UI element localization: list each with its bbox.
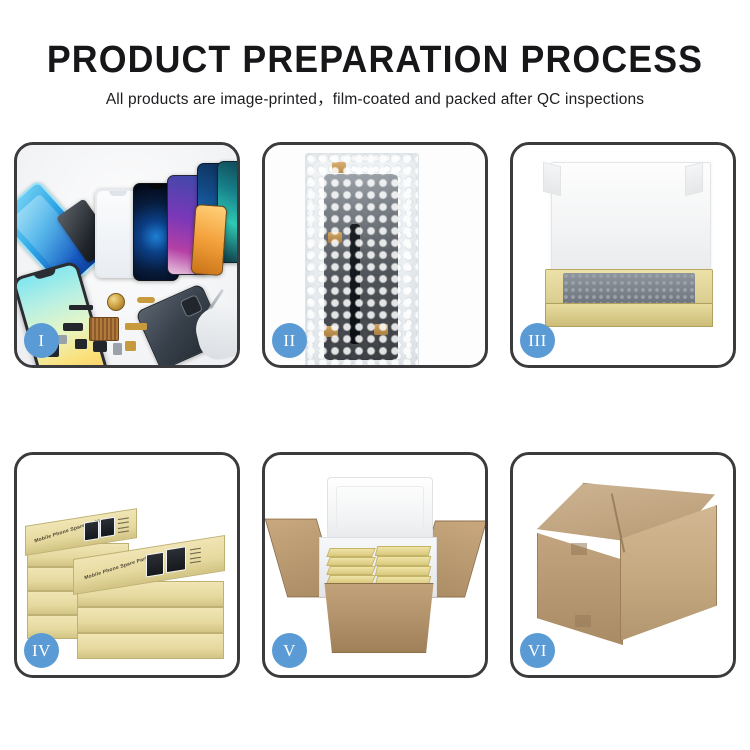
stacked-box-r3 — [77, 633, 224, 659]
label-window-right-b — [166, 546, 186, 573]
shield-can — [63, 323, 83, 331]
label-window-right-a — [146, 552, 164, 578]
kraft-tray-front-wall — [545, 303, 713, 327]
lid-tab-left — [543, 162, 561, 196]
label-window-left-b — [100, 517, 115, 538]
yellow-box-c — [326, 566, 376, 575]
yellow-box-d — [326, 575, 376, 584]
carton-tape-lower — [575, 615, 591, 627]
tape-piece-top — [332, 162, 346, 173]
label-window-left-a — [84, 520, 99, 541]
label-spec-lines-left: ▬▬▬▬▬▬▬▬▬▬▬▬ — [118, 515, 129, 534]
page-title: PRODUCT PREPARATION PROCESS — [23, 38, 728, 82]
vibration-motor — [75, 339, 87, 349]
screen-flex-cable — [350, 224, 360, 344]
yellow-box-e — [375, 546, 431, 556]
gold-phone — [191, 204, 228, 276]
tape-piece-middle — [328, 232, 342, 243]
logic-board-chip — [89, 317, 119, 341]
step-badge-5: V — [272, 633, 307, 668]
step-badge-6: VI — [520, 633, 555, 668]
page-subtitle: All products are image-printed，film-coat… — [0, 89, 750, 111]
printed-box-label-right: Mobile Phone Spare Parts — [84, 555, 151, 582]
styrofoam-lid — [327, 477, 433, 543]
step-badge-4: IV — [24, 633, 59, 668]
carton-body — [317, 583, 441, 653]
grey-foam-insert — [563, 273, 695, 305]
gold-flex-cable — [125, 323, 147, 330]
process-step-panel-5[interactable]: V — [262, 452, 488, 678]
bubble-wrap-bag — [305, 153, 419, 365]
tape-piece-lower-left — [324, 326, 338, 337]
step-badge-2: II — [272, 323, 307, 358]
gold-contact-pad — [125, 341, 136, 351]
process-step-panel-6[interactable]: VI — [510, 452, 736, 678]
yellow-box-b — [326, 557, 376, 566]
process-step-panel-3[interactable]: III — [510, 142, 736, 368]
stacked-box-r2 — [77, 607, 224, 633]
yellow-box-g — [375, 566, 431, 576]
sim-tray — [113, 343, 122, 355]
tape-piece-lower-right — [374, 324, 388, 335]
process-step-panel-2[interactable]: II — [262, 142, 488, 368]
step-badge-3: III — [520, 323, 555, 358]
gold-flex-connector — [137, 297, 155, 303]
label-spec-lines-right: ▬▬▬▬▬▬▬▬▬▬▬▬ — [190, 546, 201, 565]
carton-tape-upper — [571, 543, 587, 555]
yellow-box-f — [375, 556, 431, 566]
antenna-strip — [69, 305, 93, 310]
speaker-component — [107, 293, 125, 311]
page-header: PRODUCT PREPARATION PROCESS All products… — [0, 0, 750, 111]
camera-module — [93, 341, 107, 352]
step-badge-1: I — [24, 323, 59, 358]
process-panel-grid: I II III — [14, 142, 736, 678]
process-step-panel-1[interactable]: I — [14, 142, 240, 368]
process-step-panel-4[interactable]: Mobile Phone Spare Parts ▬▬▬▬▬▬▬▬▬▬▬▬ Mo… — [14, 452, 240, 678]
yellow-box-a — [326, 548, 376, 557]
lid-tab-right — [685, 162, 703, 196]
